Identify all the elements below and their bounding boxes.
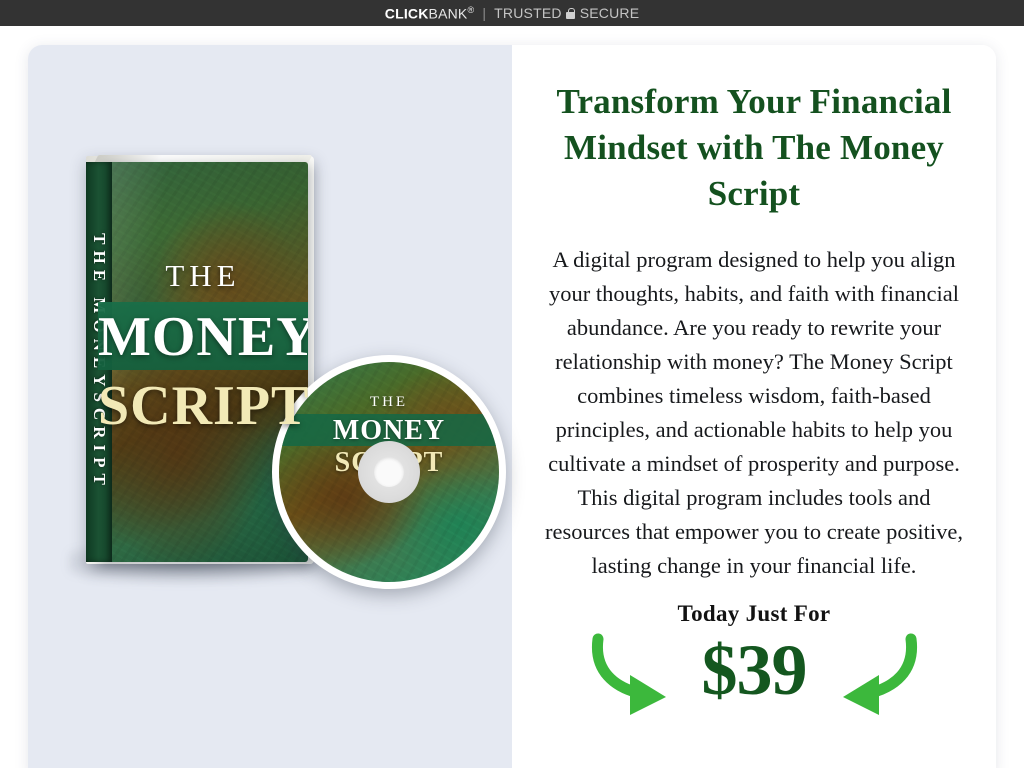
book-cover-the: THE — [98, 258, 308, 294]
trusted-label: TRUSTED — [494, 5, 562, 21]
price-amount: $39 — [702, 632, 807, 708]
product-mockup: THE MONEY SCRIPT THE MONEYSCRIPT THE MON… — [28, 45, 512, 768]
book-cover-script: SCRIPT — [98, 374, 308, 438]
curved-arrow-right-icon — [586, 631, 684, 715]
page-title: Transform Your Financial Mindset with Th… — [534, 79, 974, 217]
cd-center-hole — [374, 457, 404, 487]
cd-hub — [358, 441, 420, 503]
registered-mark: ® — [467, 5, 474, 15]
lock-icon — [566, 8, 575, 19]
book-cover-money: MONEY — [98, 308, 308, 366]
offer-copy-panel: Transform Your Financial Mindset with Th… — [512, 45, 996, 768]
clickbank-logo-bold: CLICK — [385, 5, 429, 21]
page-body: THE MONEY SCRIPT THE MONEYSCRIPT THE MON… — [0, 26, 1024, 768]
cd-label-the: THE — [279, 394, 499, 411]
secure-label: SECURE — [580, 5, 640, 21]
clickbank-logo-light: BANK — [429, 5, 468, 21]
clickbank-logo: CLICKBANK® — [385, 5, 475, 22]
price-label: Today Just For — [534, 601, 974, 627]
product-image-panel: THE MONEY SCRIPT THE MONEYSCRIPT THE MON… — [28, 45, 512, 768]
price-block: Today Just For $39 — [534, 601, 974, 721]
offer-card: THE MONEY SCRIPT THE MONEYSCRIPT THE MON… — [28, 45, 996, 768]
offer-description: A digital program designed to help you a… — [534, 243, 974, 583]
cd-artwork: THE MONEY SCRIPT — [279, 362, 499, 582]
trustbar-divider: | — [482, 5, 486, 21]
price-row: $39 — [534, 625, 974, 715]
curved-arrow-left-icon — [825, 631, 923, 715]
clickbank-trust-bar: CLICKBANK® | TRUSTED SECURE — [0, 0, 1024, 26]
